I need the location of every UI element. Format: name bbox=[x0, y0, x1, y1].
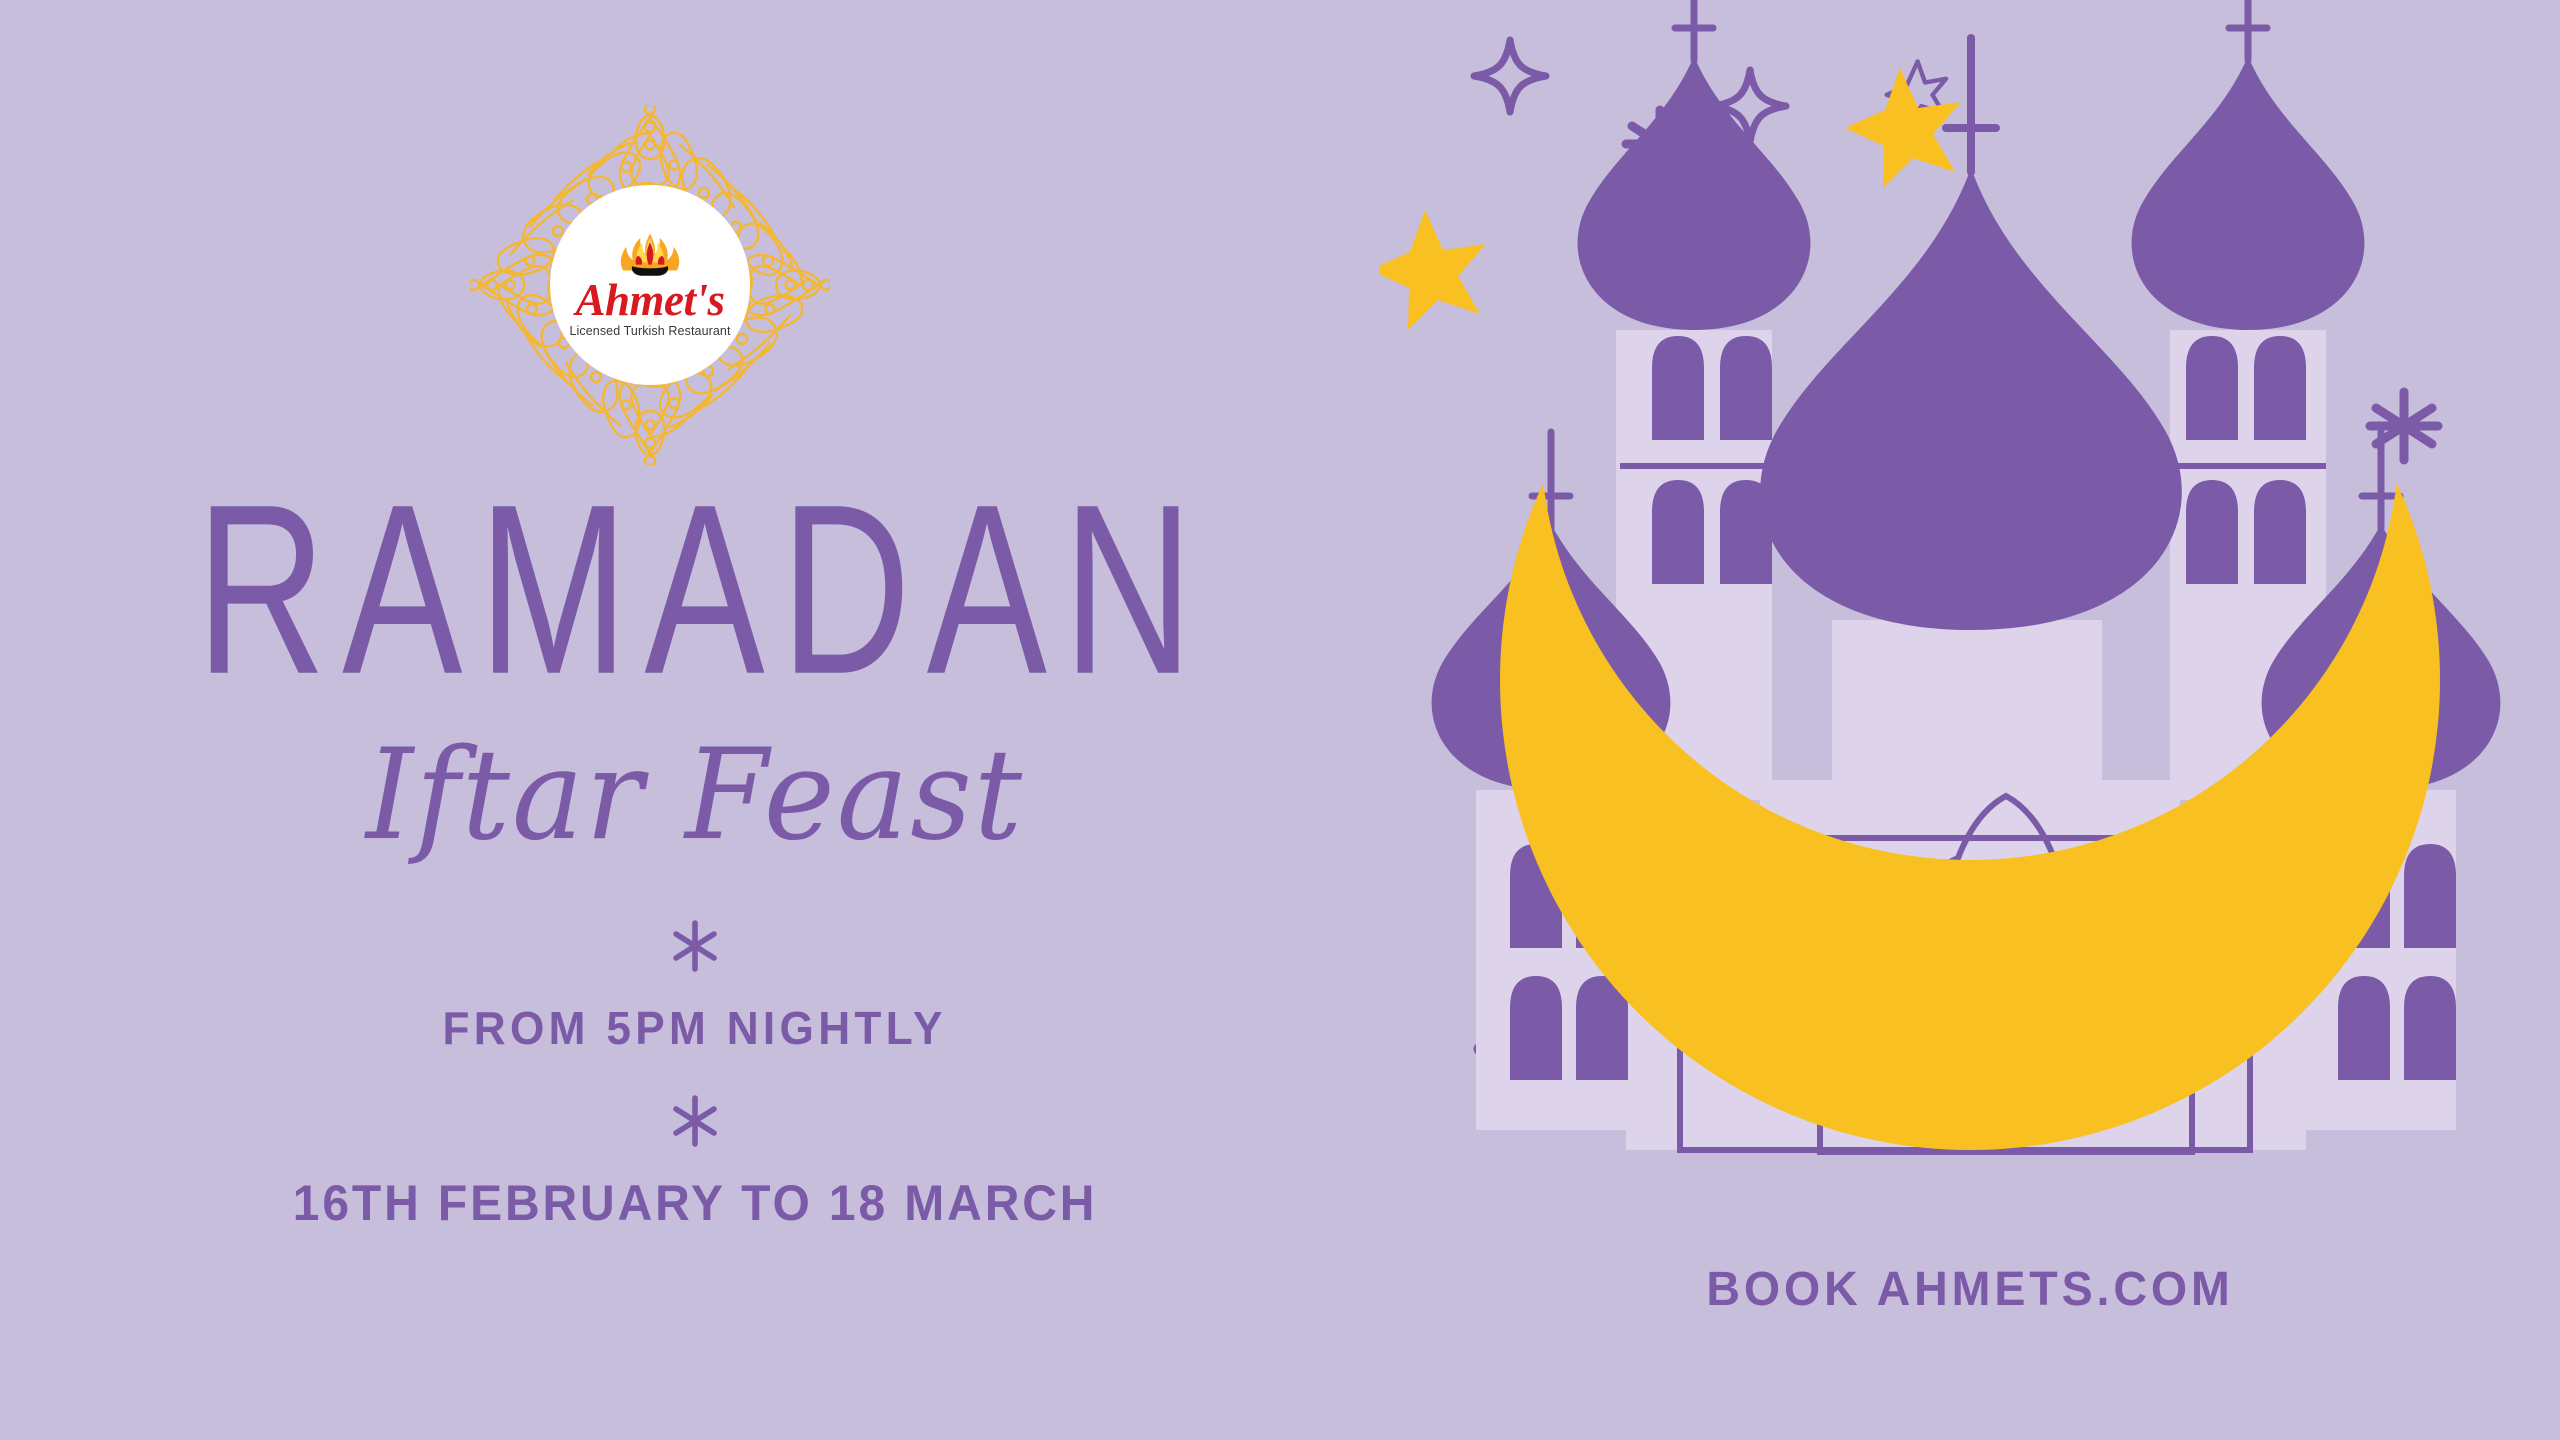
asterisk-sparkle-icon bbox=[667, 1093, 723, 1149]
booking-url-text: BOOK AHMETS.COM bbox=[1398, 1262, 2543, 1317]
logo-tagline: Licensed Turkish Restaurant bbox=[569, 324, 730, 338]
logo-disc: Ahmet's Licensed Turkish Restaurant bbox=[550, 185, 750, 385]
sparkle-separator-top bbox=[667, 918, 723, 979]
ahmets-logo: Ahmet's Licensed Turkish Restaurant bbox=[470, 105, 830, 465]
asterisk-sparkle-icon bbox=[667, 918, 723, 974]
page-subtitle: Iftar Feast bbox=[366, 733, 1024, 859]
crescent-moon-icon bbox=[1380, 0, 2560, 1440]
event-dates-text: 16TH FEBRUARY TO 18 MARCH bbox=[293, 1174, 1098, 1232]
illustration-canvas bbox=[1380, 0, 2560, 1440]
page-title: RAMADAN bbox=[181, 469, 1210, 711]
flame-icon bbox=[613, 232, 687, 278]
left-content-column: Ahmet's Licensed Turkish Restaurant RAMA… bbox=[0, 0, 1390, 1440]
service-time-text: FROM 5PM NIGHTLY bbox=[443, 1001, 947, 1055]
logo-brand-name: Ahmet's bbox=[575, 279, 724, 322]
mosque-moon-illustration: BOOK AHMETS.COM bbox=[1380, 0, 2560, 1440]
ramadan-promo-poster: Ahmet's Licensed Turkish Restaurant RAMA… bbox=[0, 0, 2560, 1440]
sparkle-separator-bottom bbox=[667, 1093, 723, 1154]
